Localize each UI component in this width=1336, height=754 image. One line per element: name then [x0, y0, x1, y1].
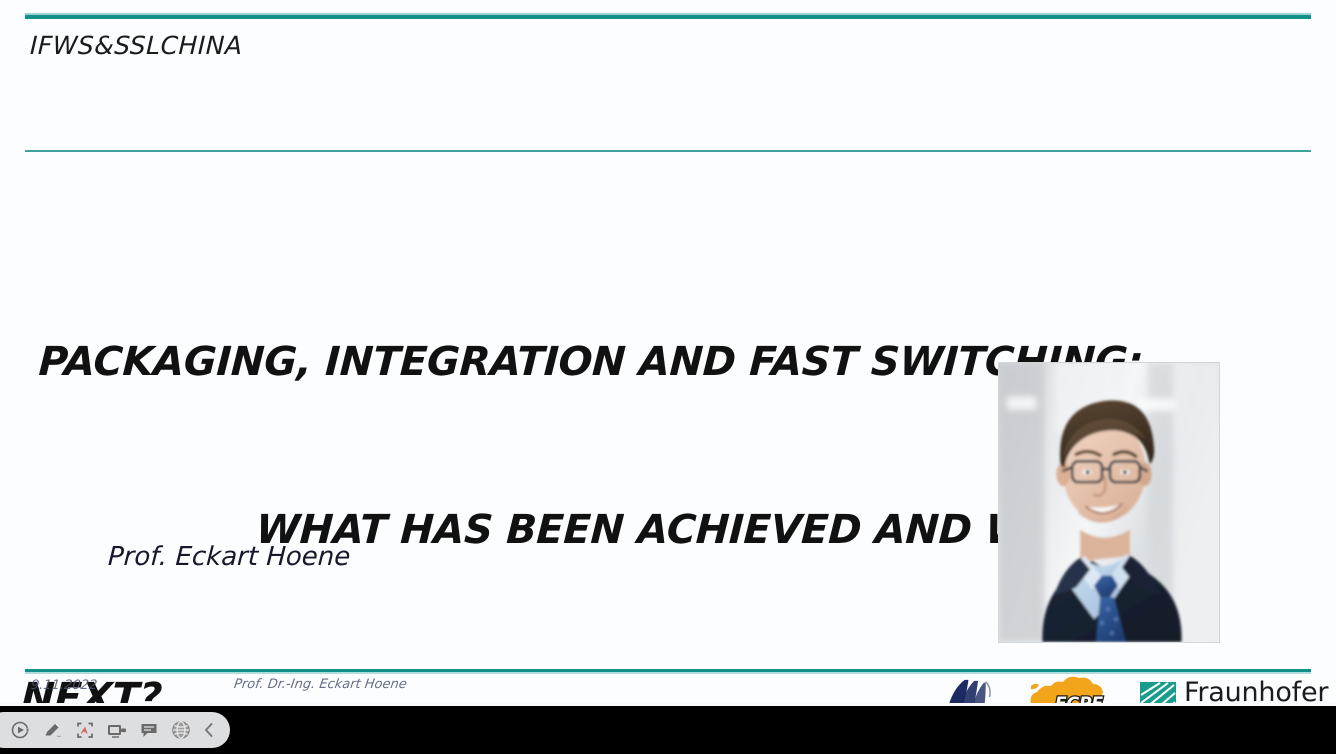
footer-date: 9.11.2022 [30, 678, 98, 693]
globe-icon [170, 719, 192, 741]
player-controls [0, 712, 230, 748]
focus-frame-icon [75, 720, 95, 740]
play-pause-button[interactable] [6, 715, 36, 745]
fraunhofer-mark-icon [1140, 682, 1176, 706]
screen-share-button[interactable] [102, 715, 132, 745]
presentation-slide: IFWS&SSLCHINA PACKAGING, INTEGRATION AND… [0, 0, 1336, 706]
fraunhofer-wordmark: Fraunhofer [1184, 676, 1328, 706]
top-accent-rule [25, 15, 1311, 19]
slide-header-title: IFWS&SSLCHINA [29, 31, 243, 60]
video-player-bar [0, 706, 1336, 754]
chevron-left-icon [202, 721, 216, 739]
collapse-toolbar-button[interactable] [198, 715, 220, 745]
footer-accent-rule [25, 669, 1311, 672]
video-stage: IFWS&SSLCHINA PACKAGING, INTEGRATION AND… [0, 0, 1336, 754]
chat-button[interactable] [134, 715, 164, 745]
aalborg-university-logo: AALBORG UNIVERSITY [919, 676, 1015, 706]
aalborg-flame-icon [936, 678, 997, 706]
ecpe-logo: ECPE [1025, 676, 1121, 706]
focus-frame-button[interactable] [70, 715, 100, 745]
ecpe-wordmark: ECPE [1055, 694, 1104, 706]
pen-icon [43, 720, 63, 740]
partner-logos: AALBORG UNIVERSITY ECPE [905, 676, 1325, 706]
chat-bubble-icon [139, 720, 159, 740]
europe-map-icon: ECPE [1025, 676, 1121, 706]
header-divider-rule [25, 150, 1311, 152]
fraunhofer-izm-logo: Fraunhofer IZM [1140, 676, 1325, 706]
footer-speaker-name: Prof. Dr.-Ing. Eckart Hoene [233, 677, 408, 692]
fraunhofer-text: Fraunhofer IZM [1184, 676, 1328, 706]
play-icon [11, 720, 31, 740]
language-globe-button[interactable] [166, 715, 196, 745]
annotate-pen-button[interactable] [38, 715, 68, 745]
screen-icon [106, 720, 128, 740]
speaker-portrait-photo [998, 362, 1220, 643]
slide-author: Prof. Eckart Hoene [107, 542, 351, 572]
